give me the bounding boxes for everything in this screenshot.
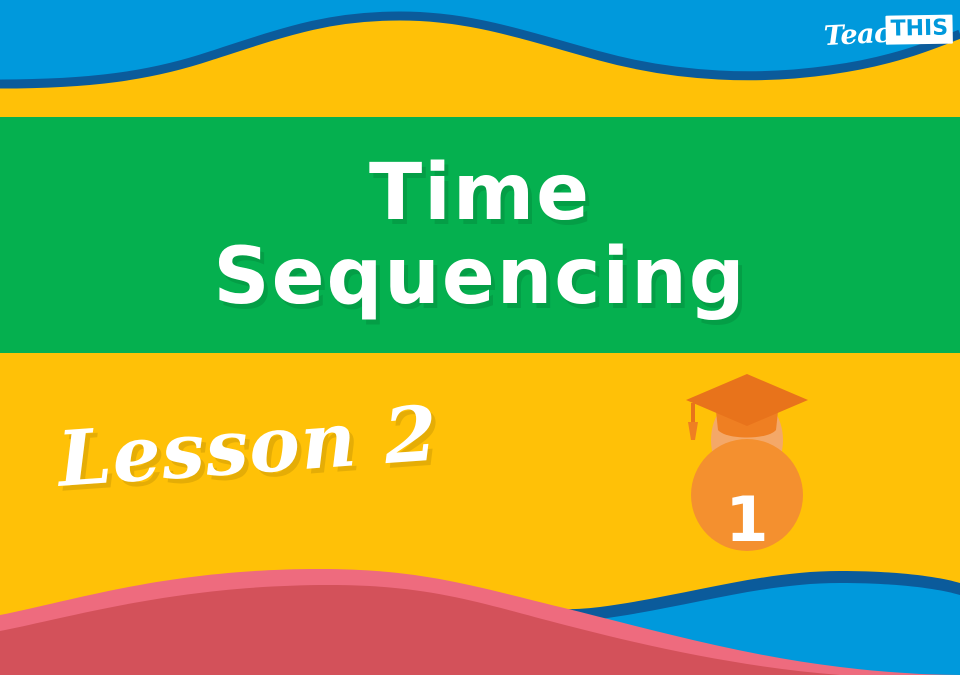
top-wave-decoration: [0, 0, 960, 118]
page-title-line-1: Time: [369, 155, 591, 231]
logo-this-box: THIS: [885, 15, 953, 45]
logo-word-this: THIS: [890, 18, 948, 41]
lesson-label: Lesson 2: [55, 389, 441, 504]
tassel-icon: [688, 422, 698, 440]
bottom-wave-decoration: [0, 555, 960, 675]
teach-this-logo[interactable]: Teach THIS: [823, 11, 945, 63]
mortarboard: [686, 374, 808, 426]
title-band: Time Sequencing: [0, 117, 960, 353]
graduate-avatar-badge: 1: [672, 368, 822, 553]
avatar-body: [691, 439, 803, 551]
page-title-line-2: Sequencing: [213, 239, 746, 315]
lesson-cover-card: Teach THIS Time Sequencing Lesson 2 1: [0, 0, 960, 675]
